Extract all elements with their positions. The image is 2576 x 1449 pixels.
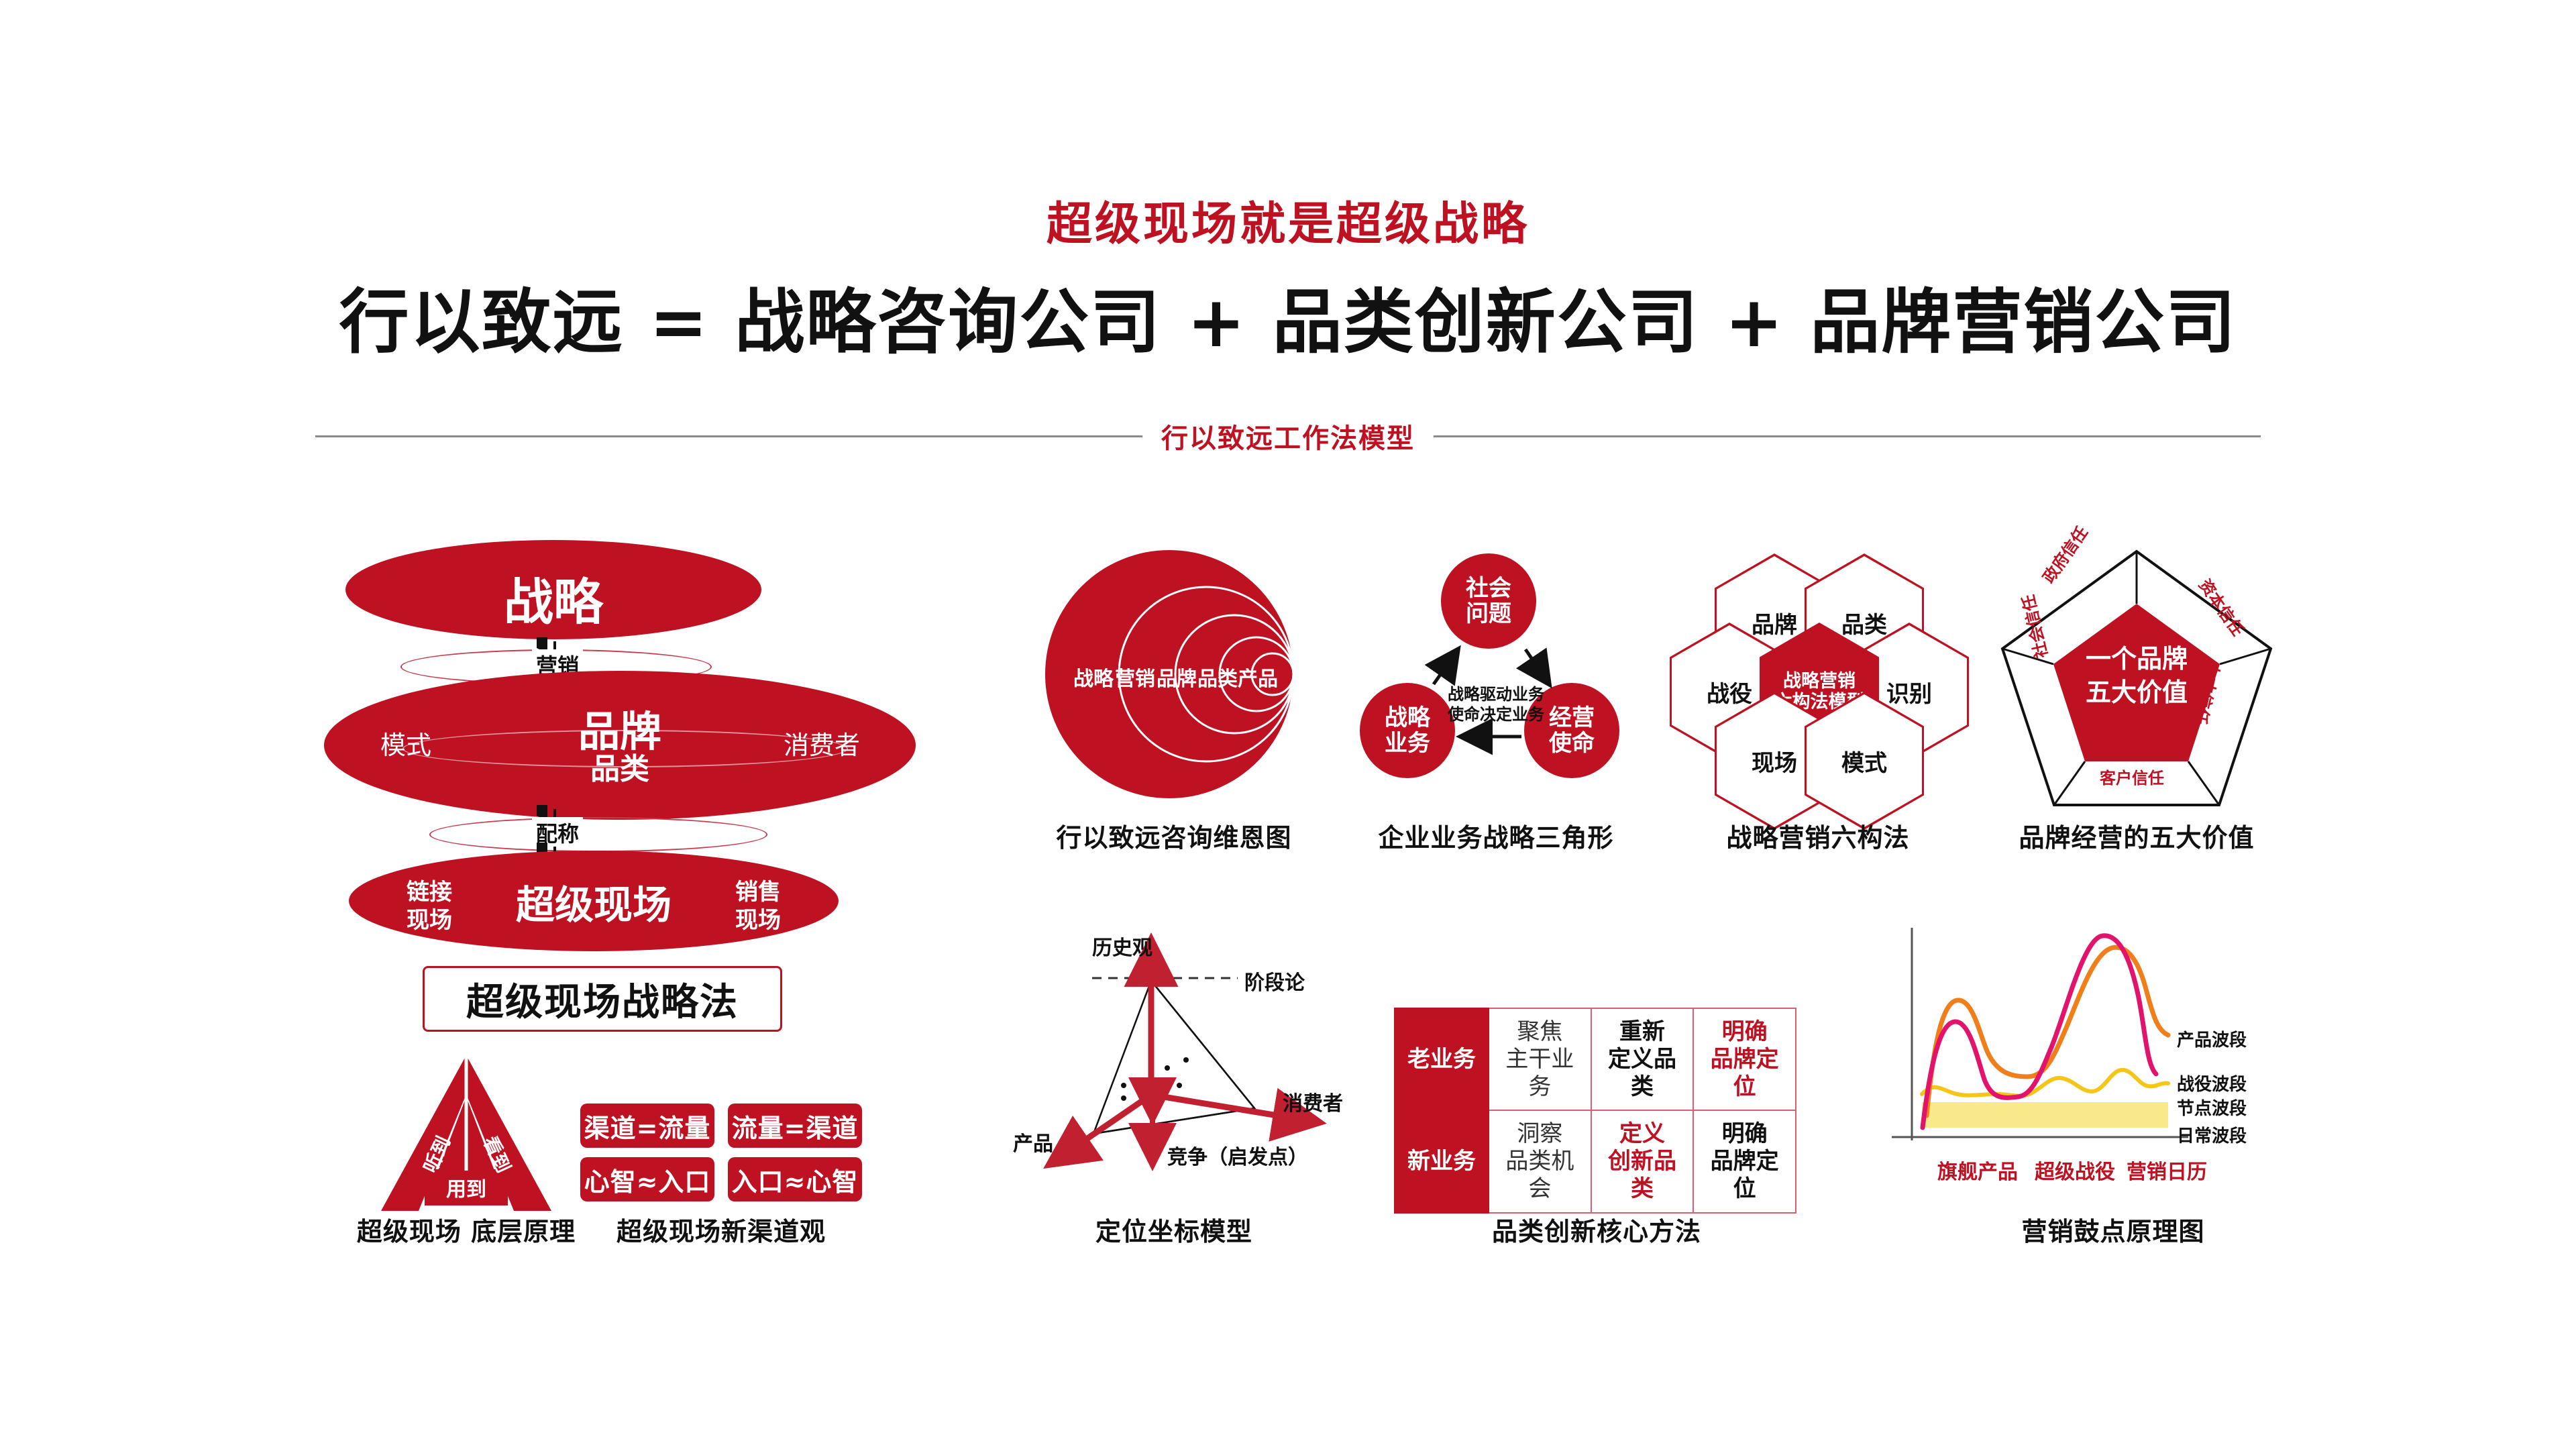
divider-label: 行以致远工作法模型: [1161, 417, 1415, 455]
pill-channel-0[interactable]: 渠道=流量: [580, 1104, 714, 1148]
cell-line2: 品牌定位: [1701, 1046, 1788, 1101]
super-scene-strategy-box[interactable]: 超级现场战略法: [423, 966, 782, 1032]
cell-line1: 洞察: [1496, 1120, 1584, 1148]
ellipse-strategy-label: 战略: [345, 562, 761, 634]
hex-cell-campaign-label: 战役: [1707, 676, 1752, 708]
cell-line2: 定义品类: [1599, 1046, 1686, 1101]
wave-legend-product: 产品波段: [2177, 1026, 2247, 1051]
venn-label-4: 产品: [1238, 662, 1278, 692]
coordinate-axis-z-label: 产品: [1013, 1127, 1053, 1157]
slide-canvas: 超级现场就是超级战略 行以致远 = 战略咨询公司 + 品类创新公司 + 品牌营销…: [0, 0, 2576, 1449]
caption-marketing-wave-chart: 营销鼓点原理图: [1966, 1211, 2261, 1248]
coordinate-axis-x-label: 消费者: [1283, 1087, 1343, 1116]
ellipse-brand-right-label: 消费者: [755, 724, 889, 761]
category-innovation-table: 老业务 聚焦 主干业务 重新 定义品类 明确 品牌定位 新业务 洞察: [1394, 1008, 1796, 1214]
svg-text:用到: 用到: [446, 1178, 486, 1201]
cell-line2: 主干业务: [1496, 1046, 1584, 1101]
table-cell-old-1[interactable]: 重新 定义品类: [1591, 1008, 1694, 1110]
ellipse-scene-left-l2: 现场: [386, 902, 473, 934]
wave-legend-daily: 日常波段: [2177, 1122, 2247, 1147]
wave-xtick-flagship: 旗舰产品: [1937, 1155, 2018, 1185]
page-title: 行以致远 = 战略咨询公司 + 品类创新公司 + 品牌营销公司: [0, 265, 2576, 366]
coordinate-axis-y-label: 历史观: [1092, 931, 1152, 961]
caption-venn: 行以致远咨询维恩图: [1026, 817, 1322, 854]
business-triangle-note: 战略驱动业务 使命决定业务: [1436, 684, 1556, 724]
caption-business-triangle: 企业业务战略三角形: [1348, 817, 1644, 854]
hex-cell-model-label: 模式: [1841, 745, 1887, 777]
wave-xtick-campaign: 超级战役: [2035, 1155, 2115, 1185]
cell-line2: 创新品类: [1599, 1148, 1686, 1203]
venn-label-1: 营销: [1115, 662, 1155, 692]
ellipse-scene-right-l2: 现场: [714, 902, 802, 934]
ellipse-brand-left-label: 模式: [349, 724, 463, 761]
table-cell-old-0[interactable]: 聚焦 主干业务: [1489, 1008, 1591, 1110]
business-note-line1: 战略驱动业务: [1436, 684, 1556, 704]
wave-legend-campaign: 战役波段: [2177, 1071, 2247, 1095]
table-row-head-old: 老业务: [1395, 1008, 1489, 1110]
caption-category-table: 品类创新核心方法: [1449, 1211, 1744, 1248]
wave-legend-node: 节点波段: [2177, 1095, 2247, 1120]
table-row: 新业务 洞察 品类机会 定义 创新品类 明确 品牌定位: [1395, 1110, 1796, 1212]
triangle-principle-shape: 听到 看到 用到: [376, 1050, 557, 1221]
pill-channel-3[interactable]: 入口≈心智: [728, 1157, 862, 1201]
cell-line1: 重新: [1599, 1018, 1686, 1046]
cell-line1: 聚焦: [1496, 1018, 1584, 1046]
table-cell-new-2[interactable]: 明确 品牌定位: [1693, 1110, 1796, 1212]
caption-pentagon-model: 品牌经营的五大价值: [1989, 817, 2284, 854]
table-cell-new-0[interactable]: 洞察 品类机会: [1489, 1110, 1591, 1212]
hex-cell-identity-label: 识别: [1886, 676, 1932, 708]
pentagon-label-customer: 客户信任: [2100, 765, 2164, 788]
ring-fit: [429, 817, 767, 852]
venn-label-3: 品类: [1197, 662, 1238, 692]
table-cell-new-1[interactable]: 定义 创新品类: [1591, 1110, 1694, 1212]
page-subtitle: 超级现场就是超级战略: [0, 186, 2576, 253]
cell-line1: 明确: [1701, 1120, 1788, 1148]
svg-text:一个品牌: 一个品牌: [2086, 644, 2188, 674]
venn-label-2: 品牌: [1157, 662, 1197, 692]
section-divider: 行以致远工作法模型: [315, 416, 2261, 456]
hex-cell-brand-label: 品牌: [1752, 606, 1797, 639]
wave-xtick-calendar: 营销日历: [2127, 1155, 2207, 1185]
table-cell-old-2[interactable]: 明确 品牌定位: [1693, 1008, 1796, 1110]
caption-triangle-principle: 超级现场 底层原理: [335, 1211, 597, 1248]
pill-channel-2[interactable]: 心智≈入口: [580, 1157, 714, 1201]
coordinate-dashed-label: 阶段论: [1244, 966, 1305, 996]
hex-core-line1: 战略营销: [1774, 671, 1865, 692]
divider-line-right: [1434, 435, 2261, 437]
caption-channel-view: 超级现场新渠道观: [594, 1211, 849, 1248]
cell-line2: 品类机会: [1496, 1148, 1584, 1203]
business-note-line2: 使命决定业务: [1436, 704, 1556, 724]
coordinate-competition-label: 竞争（启发点）: [1167, 1140, 1308, 1170]
caption-hexagon-model: 战略营销六构法: [1670, 817, 1966, 854]
business-triangle-arrows: [1355, 550, 1630, 792]
cell-line1: 明确: [1701, 1018, 1788, 1046]
cell-line2: 品牌定位: [1701, 1148, 1788, 1203]
svg-text:五大价值: 五大价值: [2086, 678, 2188, 707]
table-row: 老业务 聚焦 主干业务 重新 定义品类 明确 品牌定位: [1395, 1008, 1796, 1110]
table-row-head-new: 新业务: [1395, 1110, 1489, 1212]
pill-channel-1[interactable]: 流量=渠道: [728, 1104, 862, 1148]
hex-cell-category-label: 品类: [1841, 606, 1887, 639]
hex-cell-scene-label: 现场: [1752, 745, 1797, 777]
cell-line1: 定义: [1599, 1120, 1686, 1148]
caption-coordinate-model: 定位坐标模型: [1026, 1211, 1322, 1248]
venn-label-0: 战略: [1073, 662, 1114, 692]
divider-line-left: [315, 435, 1142, 437]
